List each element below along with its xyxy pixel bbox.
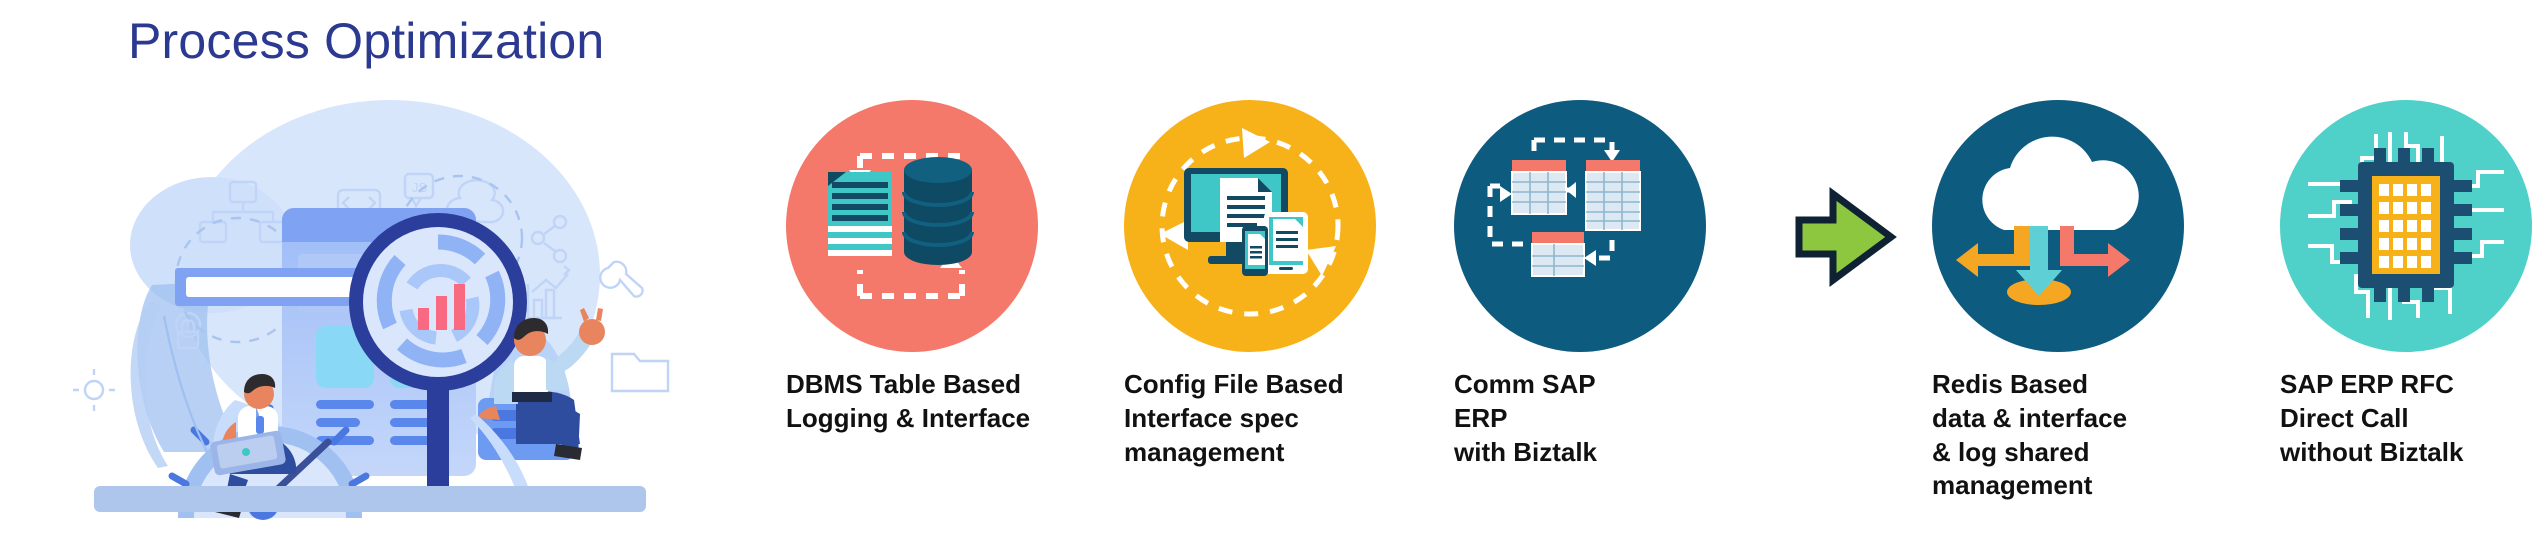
flow-step-label: Redis Based data & interface & log share…: [1932, 368, 2248, 503]
slide-canvas: Process Optimization: [0, 0, 2534, 558]
flow-step-label: Config File Based Interface spec managem…: [1124, 368, 1440, 469]
process-optimization-illustration: JS: [60, 70, 700, 520]
flow-step-comm-sap-erp-biztalk[interactable]: Comm SAP ERP with Biztalk: [1440, 100, 1770, 469]
flow-step-sap-erp-rfc-direct[interactable]: SAP ERP RFC Direct Call without Biztalk: [2258, 100, 2534, 469]
flow-step-redis-based[interactable]: Redis Based data & interface & log share…: [1918, 100, 2248, 503]
process-flow-row: DBMS Table Based Logging & Interface: [750, 100, 2530, 530]
cloud-data-arrows-icon: [1932, 100, 2184, 352]
flow-step-config-file-based[interactable]: Config File Based Interface spec managem…: [1110, 100, 1440, 469]
cpu-chip-icon: [2280, 100, 2532, 352]
flow-step-dbms-table-based[interactable]: DBMS Table Based Logging & Interface: [772, 100, 1102, 436]
linked-tables-icon: [1454, 100, 1706, 352]
multi-device-document-icon: [1124, 100, 1376, 352]
right-arrow-icon: [1785, 182, 1905, 292]
document-database-icon: [786, 100, 1038, 352]
page-title: Process Optimization: [128, 12, 604, 70]
flow-step-label: Comm SAP ERP with Biztalk: [1454, 368, 1770, 469]
flow-step-label: DBMS Table Based Logging & Interface: [786, 368, 1102, 436]
flow-step-label: SAP ERP RFC Direct Call without Biztalk: [2280, 368, 2534, 469]
